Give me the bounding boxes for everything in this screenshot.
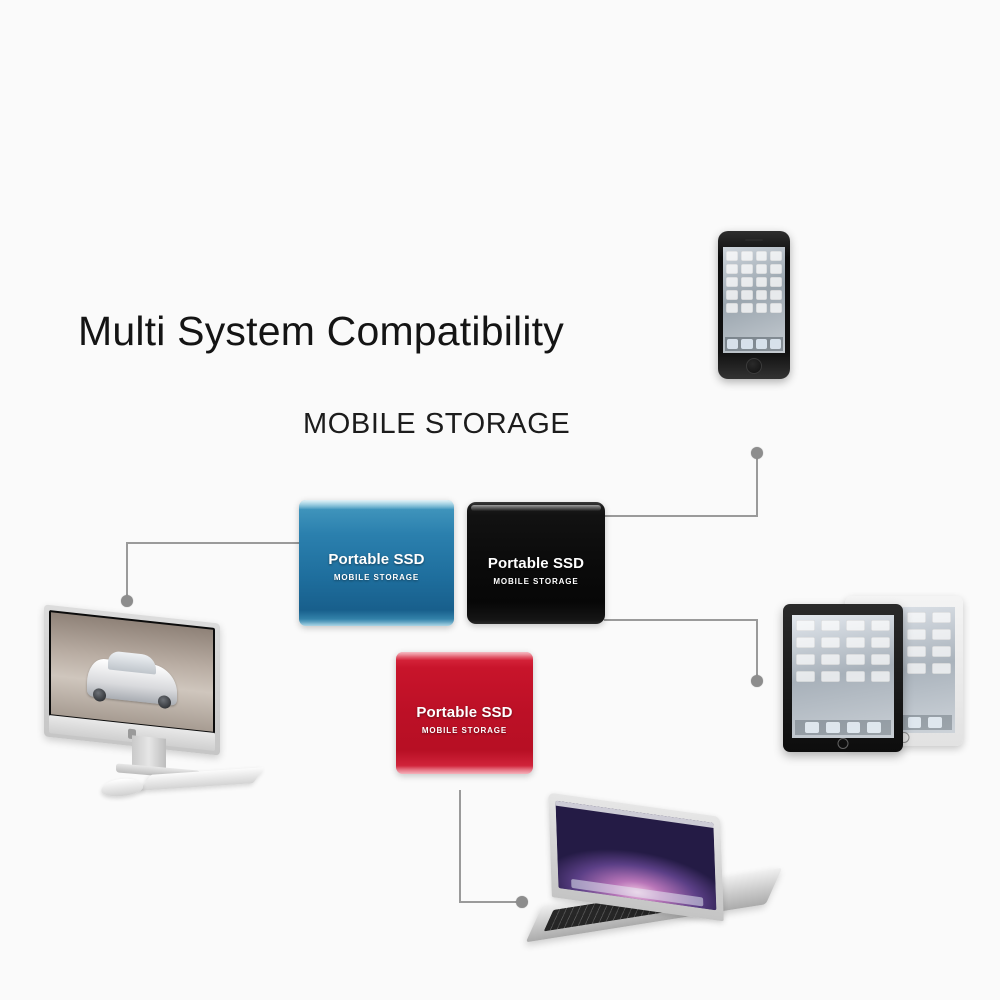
portable-ssd-blue[interactable]: Portable SSD MOBILE STORAGE (299, 500, 454, 626)
tablet-icon-black (783, 604, 903, 752)
ssd-blue-name: Portable SSD (299, 551, 454, 568)
desktop-screen (49, 610, 215, 734)
portable-ssd-red[interactable]: Portable SSD MOBILE STORAGE (396, 652, 533, 774)
laptop-screen (555, 801, 716, 911)
connector-to-laptop-horizontal (459, 901, 523, 903)
desktop-display (44, 604, 220, 755)
tablet-black-dock (795, 720, 891, 735)
desktop-wallpaper (51, 612, 213, 732)
laptop-icon (534, 805, 784, 940)
phone-home-button (746, 358, 762, 374)
connector-to-desktop-vertical (126, 542, 128, 602)
connector-to-smartphone-horizontal (604, 515, 758, 517)
car-windshield (108, 651, 155, 675)
connector-to-desktop-horizontal (126, 542, 302, 544)
connector-to-smartphone-vertical (756, 458, 758, 516)
ssd-black-subtitle: MOBILE STORAGE (467, 577, 605, 586)
page-subtitle: MOBILE STORAGE (303, 408, 570, 441)
ssd-blue-subtitle: MOBILE STORAGE (299, 573, 454, 582)
laptop-menubar (555, 801, 713, 828)
connector-to-laptop-vertical (459, 790, 461, 903)
ssd-red-subtitle: MOBILE STORAGE (396, 726, 533, 735)
phone-app-grid (726, 251, 782, 313)
phone-speaker (745, 239, 763, 241)
connector-dot-smartphone (751, 447, 763, 459)
phone-screen (723, 247, 785, 353)
connector-dot-tablet (751, 675, 763, 687)
sports-car-image (87, 657, 178, 706)
ssd-red-name: Portable SSD (396, 704, 533, 721)
page-title: Multi System Compatibility (78, 308, 564, 355)
tablet-black-home-button (838, 738, 849, 749)
connector-to-tablet-horizontal (604, 619, 758, 621)
tablet-black-app-grid (796, 620, 890, 682)
smartphone-icon (718, 231, 790, 379)
ssd-black-name: Portable SSD (467, 555, 605, 572)
tablet-black-screen (792, 615, 894, 738)
phone-dock (725, 337, 783, 351)
connector-to-tablet-vertical (756, 619, 758, 681)
portable-ssd-black[interactable]: Portable SSD MOBILE STORAGE (467, 502, 605, 624)
product-infographic: Multi System Compatibility MOBILE STORAG… (0, 0, 1000, 1000)
laptop-dock (571, 879, 704, 907)
connector-dot-laptop (516, 896, 528, 908)
